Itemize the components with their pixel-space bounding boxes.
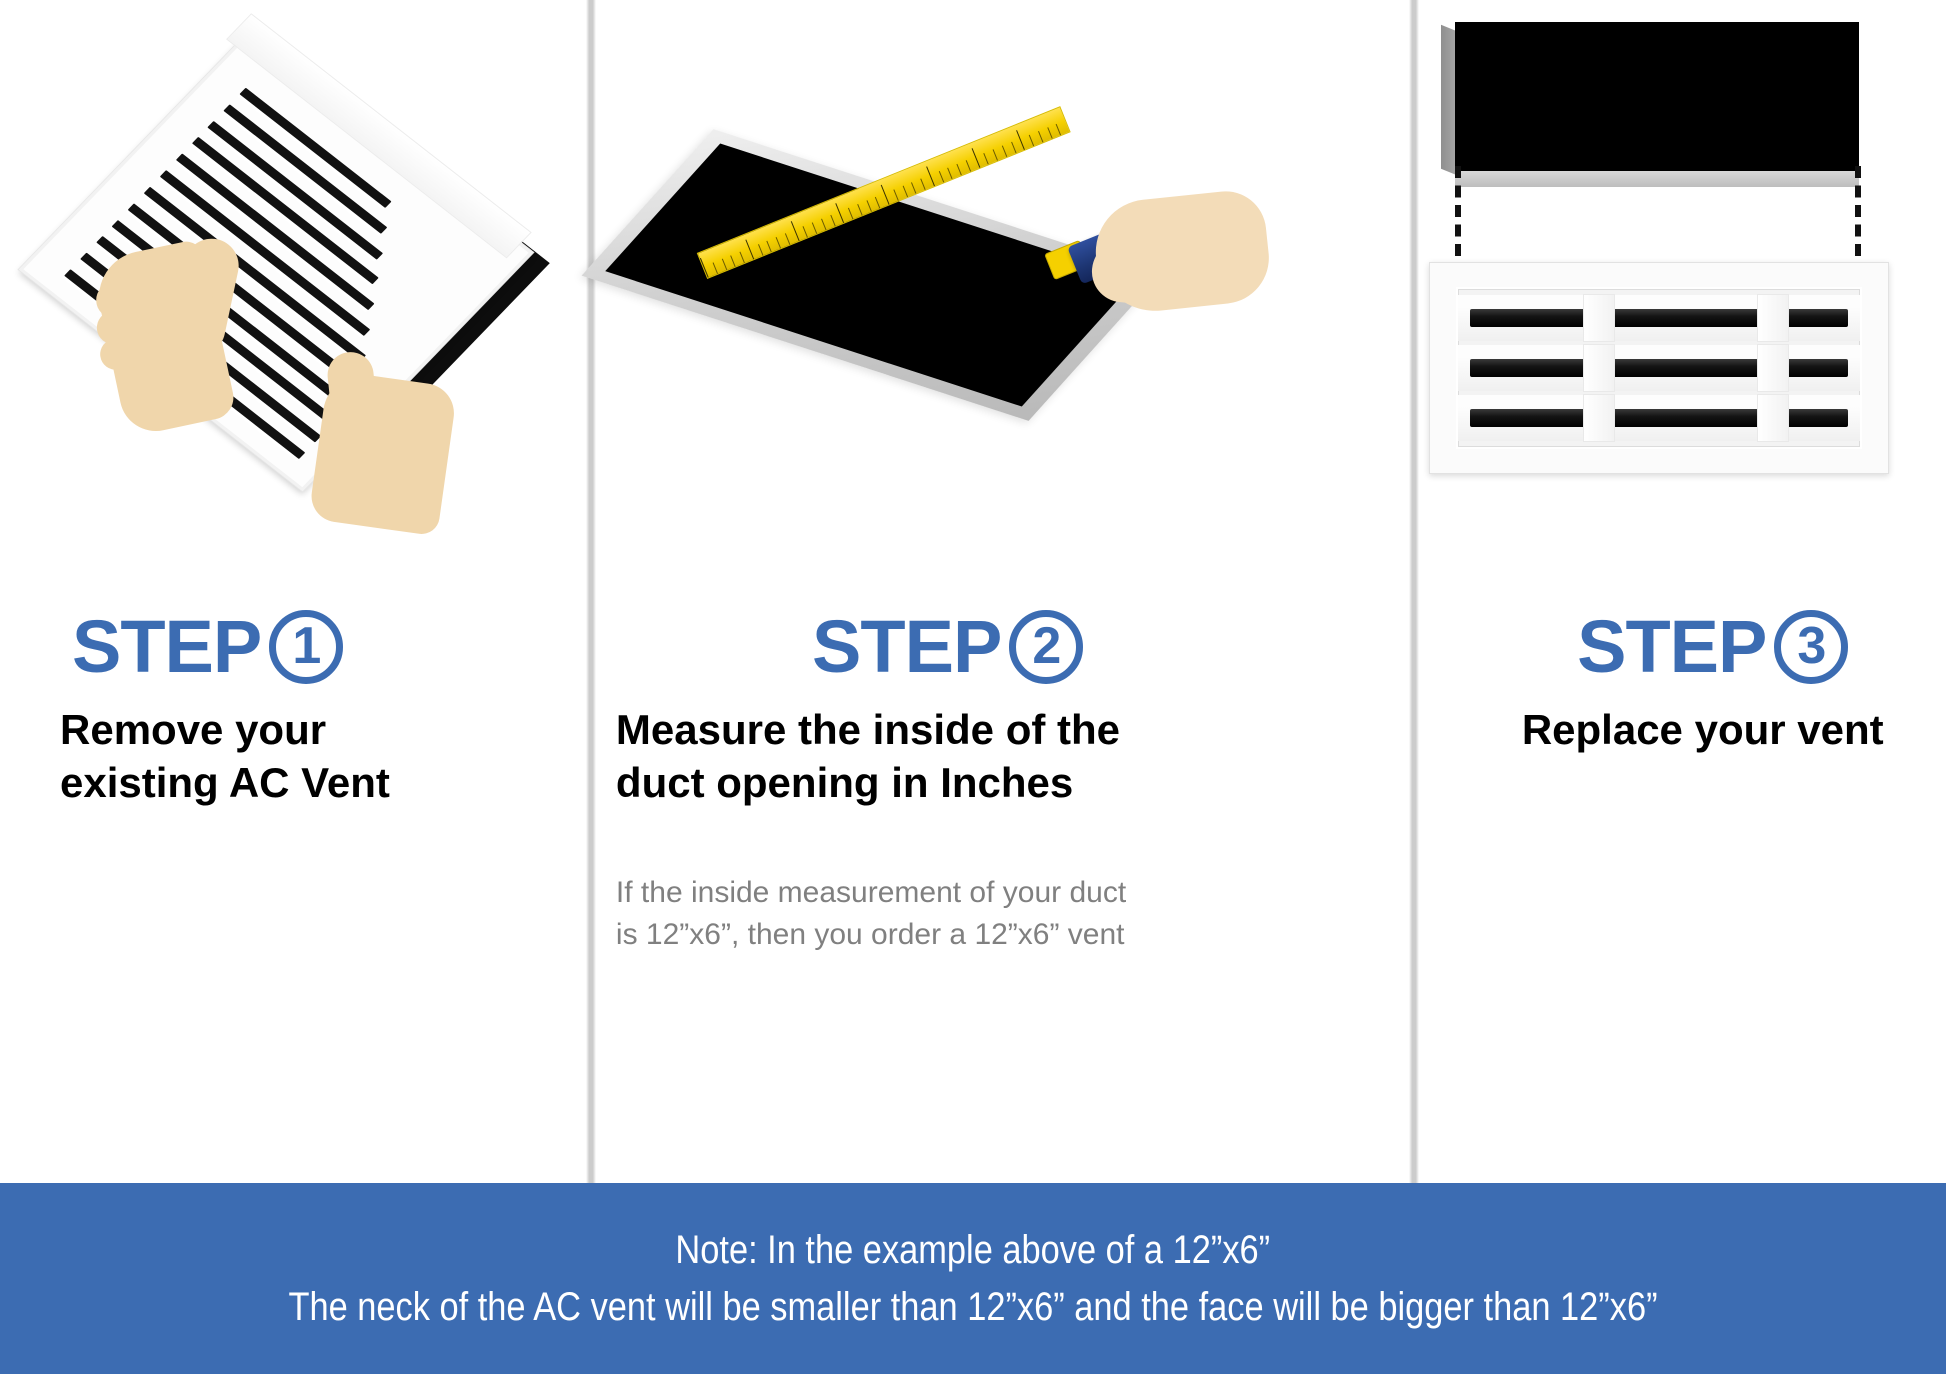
- step-1-illustration: [0, 0, 586, 610]
- step-1-text: STEP 1 Remove your existing AC Vent: [0, 610, 646, 810]
- step-3-illustration: [1419, 0, 1946, 610]
- step-2-text: STEP 2 Measure the inside of the duct op…: [596, 610, 1430, 957]
- vent-replacement-scene: [1419, 0, 1946, 610]
- step-1-heading: STEP 1: [72, 610, 646, 684]
- step-column-1: STEP 1 Remove your existing AC Vent: [0, 0, 586, 1183]
- vent-face: [19, 31, 533, 491]
- step-2-word: STEP: [812, 610, 1001, 684]
- step-1-title-line1: Remove your: [60, 704, 646, 757]
- replacement-register-icon: [1429, 262, 1889, 474]
- measuring-hand-icon: [1091, 187, 1274, 316]
- register-divider: [1758, 395, 1788, 441]
- step-1-number-badge: 1: [269, 610, 343, 684]
- step-2-number-badge: 2: [1009, 610, 1083, 684]
- alignment-dashed-line-left-icon: [1455, 166, 1461, 256]
- register-louver-bar: [1470, 359, 1848, 377]
- duct-measure-scene: [596, 0, 1418, 610]
- step-1-title: Remove your existing AC Vent: [60, 704, 646, 810]
- step-2-heading: STEP 2: [616, 610, 1430, 684]
- step-3-title: Replace your vent: [1439, 704, 1946, 757]
- footer-note-banner: Note: In the example above of a 12”x6” T…: [0, 1183, 1946, 1374]
- step-2-title-line2: duct opening in Inches: [616, 757, 1430, 810]
- step-2-title: Measure the inside of the duct opening i…: [616, 704, 1430, 810]
- step-column-3: STEP 3 Replace your vent: [1419, 0, 1946, 1183]
- register-divider: [1584, 295, 1614, 341]
- step-2-note-line2: is 12”x6”, then you order a 12”x6” vent: [616, 914, 1430, 957]
- step-1-title-line2: existing AC Vent: [60, 757, 646, 810]
- step-3-text: STEP 3 Replace your vent: [1419, 610, 1946, 757]
- step-3-title-line1: Replace your vent: [1439, 704, 1946, 757]
- step-3-heading: STEP 3: [1439, 610, 1946, 684]
- right-hand-icon: [308, 370, 458, 537]
- step-2-note: If the inside measurement of your duct i…: [616, 872, 1430, 957]
- duct-bottom-rim: [1455, 171, 1859, 187]
- step-2-note-line1: If the inside measurement of your duct: [616, 872, 1430, 915]
- register-divider: [1758, 295, 1788, 341]
- step-1-word: STEP: [72, 610, 261, 684]
- register-louver-bar: [1470, 409, 1848, 427]
- step-2-title-line1: Measure the inside of the: [616, 704, 1430, 757]
- footer-note-line2: The neck of the AC vent will be smaller …: [288, 1279, 1657, 1336]
- step-3-number-badge: 3: [1774, 610, 1848, 684]
- step-column-2: STEP 2 Measure the inside of the duct op…: [596, 0, 1410, 1183]
- alignment-dashed-line-right-icon: [1855, 166, 1861, 256]
- register-divider: [1584, 395, 1614, 441]
- register-louver-row: [1458, 395, 1860, 441]
- louvered-vent-icon: [19, 31, 533, 491]
- steps-columns: STEP 1 Remove your existing AC Vent: [0, 0, 1946, 1183]
- register-grille: [1456, 287, 1862, 449]
- step-2-illustration: [596, 0, 1410, 610]
- vent-removal-scene: [0, 0, 592, 610]
- register-louver-bar: [1470, 309, 1848, 327]
- register-louver-row: [1458, 345, 1860, 391]
- duct-hole: [1455, 22, 1859, 172]
- register-divider: [1584, 345, 1614, 391]
- duct-opening-icon: [582, 129, 1161, 421]
- step-3-word: STEP: [1577, 610, 1766, 684]
- duct-opening-icon: [1455, 22, 1859, 172]
- footer-note-line1: Note: In the example above of a 12”x6”: [676, 1222, 1271, 1279]
- register-louver-row: [1458, 295, 1860, 341]
- infographic-board: STEP 1 Remove your existing AC Vent: [0, 0, 1946, 1374]
- register-divider: [1758, 345, 1788, 391]
